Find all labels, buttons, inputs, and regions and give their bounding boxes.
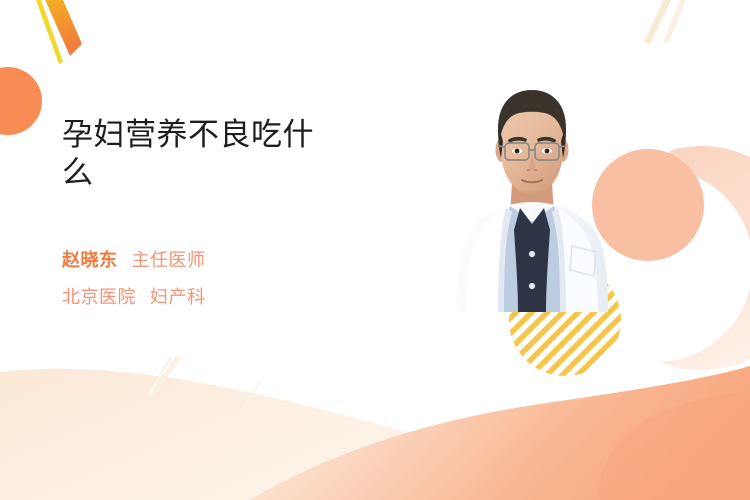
doctor-portrait <box>432 84 632 312</box>
doctor-video-cover-card: 孕妇营养不良吃什 么 赵晓东 主任医师 北京医院 妇产科 <box>0 0 750 500</box>
nostril-right <box>534 169 537 171</box>
top-left-diagonal-stripes <box>31 0 82 64</box>
doctor-title: 主任医师 <box>132 246 206 272</box>
coat-button <box>529 283 535 289</box>
doctor-name-row: 赵晓东 主任医师 <box>62 246 392 272</box>
doctor-name: 赵晓东 <box>62 246 118 272</box>
bottom-right-salmon-wave <box>250 366 750 500</box>
pupil-right <box>545 149 550 154</box>
doctor-department: 妇产科 <box>150 283 206 309</box>
bottom-pale-wave <box>0 369 750 500</box>
peach-crescent-arc <box>652 146 750 370</box>
orange-circle-decor <box>0 67 42 135</box>
faint-diagonal-sliver-2 <box>235 382 261 420</box>
doctor-credit-block: 赵晓东 主任医师 北京医院 妇产科 <box>62 246 392 309</box>
top-right-faint-stripes <box>644 0 690 44</box>
pupil-left <box>515 149 520 154</box>
doctor-affiliation-row: 北京医院 妇产科 <box>62 283 392 309</box>
page-title: 孕妇营养不良吃什 么 <box>62 116 412 192</box>
doctor-hospital: 北京医院 <box>62 283 136 309</box>
salmon-inner-lobe <box>600 392 750 500</box>
faint-diagonal-sliver <box>147 356 181 397</box>
nostril-left <box>527 169 530 171</box>
coat-button <box>529 251 535 257</box>
